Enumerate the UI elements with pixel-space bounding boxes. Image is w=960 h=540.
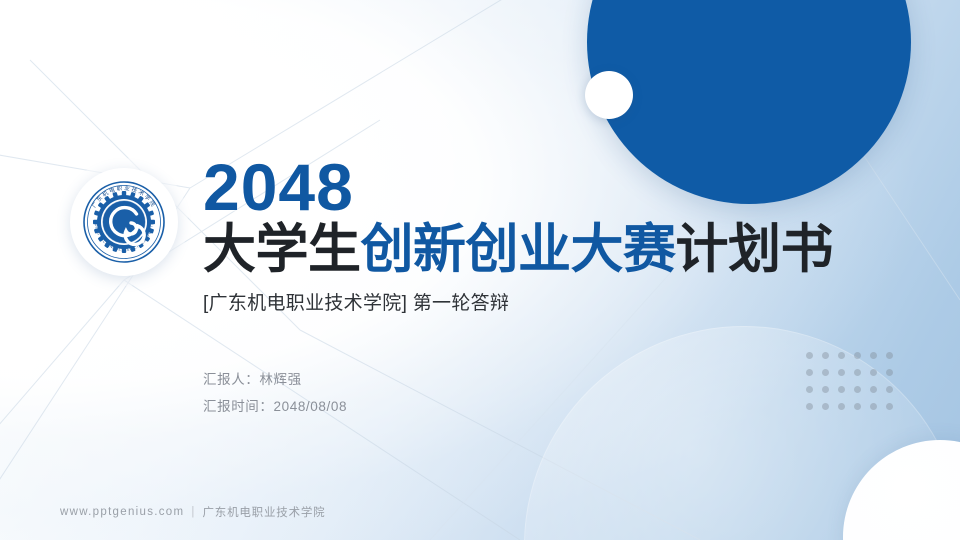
- page-title: 大学生创新创业大赛计划书: [203, 222, 843, 278]
- presenter-meta: 汇报人：林辉强 汇报时间：2048/08/08: [203, 368, 347, 422]
- school-logo: 广东机电职业技术学院 GUANGDONG MECHANICAL & ELECTR…: [70, 168, 178, 276]
- footer: www.pptgenius.com | 广东机电职业技术学院: [60, 504, 325, 520]
- year-label: 2048: [203, 155, 843, 220]
- title-block: 2048 大学生创新创业大赛计划书 [广东机电职业技术学院] 第一轮答辩: [203, 155, 843, 315]
- decorative-dot-grid: [806, 352, 902, 420]
- subtitle: [广东机电职业技术学院] 第一轮答辩: [203, 288, 843, 315]
- presentation-slide: 广东机电职业技术学院 GUANGDONG MECHANICAL & ELECTR…: [0, 0, 960, 540]
- headline-part-3: 计划书: [676, 220, 834, 279]
- school-emblem-icon: 广东机电职业技术学院 GUANGDONG MECHANICAL & ELECTR…: [76, 174, 172, 270]
- decorative-faint-circle: [524, 326, 960, 540]
- decorative-large-white-circle: [843, 440, 960, 540]
- footer-separator: |: [191, 506, 195, 518]
- headline-part-2: 创新创业大赛: [361, 220, 676, 279]
- footer-site: www.pptgenius.com: [60, 506, 184, 518]
- presenter-name: 汇报人：林辉强: [203, 368, 347, 388]
- footer-org: 广东机电职业技术学院: [202, 504, 325, 520]
- decorative-small-white-circle: [585, 71, 633, 119]
- headline-part-1: 大学生: [203, 220, 361, 279]
- presentation-date: 汇报时间：2048/08/08: [203, 395, 347, 415]
